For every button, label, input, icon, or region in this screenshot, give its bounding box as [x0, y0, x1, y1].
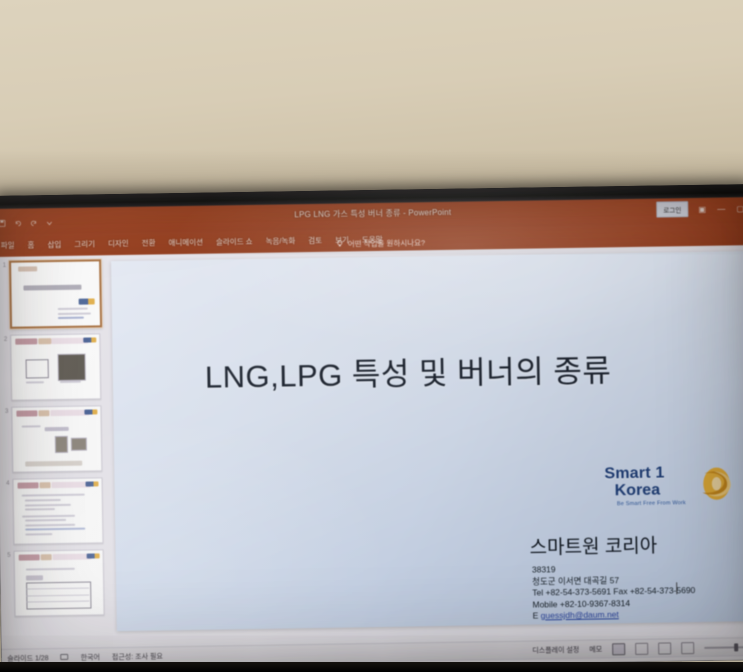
tell-me-label[interactable]: 어떤 작업을 원하시나요?: [348, 237, 426, 249]
thumbnail-number: 3: [0, 407, 8, 415]
notes-button[interactable]: 메모: [589, 645, 602, 655]
tab-review[interactable]: 검토: [308, 235, 322, 246]
thumbnail-slide-1[interactable]: [9, 259, 102, 328]
logo-line-1: Smart 1: [604, 465, 664, 484]
view-normal-button[interactable]: [612, 643, 625, 655]
company-name: 스마트원 코리아: [529, 531, 657, 560]
status-right[interactable]: 디스플레이 설정 메모: [532, 641, 743, 656]
workspace: 1 2: [0, 245, 743, 649]
maximize-button[interactable]: ▢: [735, 204, 743, 213]
tab-file[interactable]: 파일: [1, 240, 15, 251]
thumbnail-item-3[interactable]: 3: [0, 405, 104, 473]
contact-block: 38319 청도군 이서면 대곡길 57 Tel +82-54-373-5691…: [532, 562, 696, 631]
tab-record[interactable]: 녹음/녹화: [266, 235, 296, 246]
minimize-button[interactable]: —: [716, 204, 726, 213]
logo-swirl-icon: [696, 465, 735, 502]
tab-slideshow[interactable]: 슬라이드 쇼: [216, 236, 253, 248]
monitor: LPG LNG 가스 특성 버너 종류 - PowerPoint 로그인 ▣ —…: [0, 184, 743, 672]
tab-draw[interactable]: 그리기: [74, 238, 95, 249]
text-cursor: [676, 582, 677, 594]
thumbnail-slide-3[interactable]: [11, 405, 102, 472]
view-reading-button[interactable]: [658, 642, 671, 654]
current-slide[interactable]: LNG,LPG 특성 및 버너의 종류 Smart 1 Korea Be Sma…: [111, 251, 743, 631]
ribbon-tabs[interactable]: 파일 홈 삽입 그리기 디자인 전환 애니메이션 슬라이드 쇼 녹음/녹화 검토…: [1, 234, 383, 251]
logo-line-2: Korea: [615, 482, 661, 501]
lightbulb-icon: [336, 235, 344, 253]
accessibility-status[interactable]: 접근성: 조사 필요: [112, 651, 163, 662]
email-prefix: E: [533, 611, 539, 621]
thumbnail-slide-2[interactable]: [10, 333, 101, 400]
thumbnail-item-4[interactable]: 4: [0, 477, 105, 545]
thumbnail-slide-5[interactable]: [14, 549, 105, 616]
thumbnail-number: 5: [2, 551, 11, 559]
smart1korea-logo: Smart 1 Korea Be Smart Free From Work: [604, 463, 733, 515]
zoom-slider-handle[interactable]: [734, 643, 738, 651]
screen: LPG LNG 가스 특성 버너 종류 - PowerPoint 로그인 ▣ —…: [0, 197, 743, 672]
tab-design[interactable]: 디자인: [108, 238, 129, 249]
thumbnail-number: 4: [0, 479, 9, 487]
desk-shadow: [0, 662, 743, 672]
thumbnail-number: 2: [0, 335, 7, 343]
logo-tagline: Be Smart Free From Work: [617, 500, 686, 507]
slide-thumbnail-panel[interactable]: 1 2: [0, 255, 113, 649]
thumbnail-item-5[interactable]: 5: [2, 549, 107, 617]
window-controls[interactable]: 로그인 ▣ — ▢: [656, 200, 743, 217]
thumbnail-slide-4[interactable]: [12, 477, 103, 544]
thumbnail-number: 1: [0, 261, 6, 269]
ribbon-display-options-icon[interactable]: ▣: [697, 204, 707, 213]
view-slideshow-button[interactable]: [681, 642, 694, 654]
slide-canvas[interactable]: LNG,LPG 특성 및 버너의 종류 Smart 1 Korea Be Sma…: [107, 245, 743, 647]
email-link[interactable]: guessjdh@daum.net: [541, 609, 619, 620]
website-link[interactable]: https://www.smart1korea.com: [533, 620, 696, 632]
thumbnail-item-1[interactable]: 1: [0, 259, 102, 329]
display-settings-button[interactable]: 디스플레이 설정: [532, 645, 579, 656]
thumbnail-item-2[interactable]: 2: [0, 333, 103, 401]
view-sorter-button[interactable]: [635, 643, 648, 655]
tab-transitions[interactable]: 전환: [142, 237, 156, 248]
tab-animations[interactable]: 애니메이션: [168, 237, 203, 249]
signin-button[interactable]: 로그인: [656, 201, 688, 217]
photo-scene: LPG LNG 가스 특성 버너 종류 - PowerPoint 로그인 ▣ —…: [0, 0, 743, 672]
tab-insert[interactable]: 삽입: [47, 239, 61, 250]
slide-title[interactable]: LNG,LPG 특성 및 버너의 종류: [204, 344, 675, 396]
zoom-slider[interactable]: [704, 646, 743, 649]
tab-home[interactable]: 홈: [27, 239, 34, 250]
